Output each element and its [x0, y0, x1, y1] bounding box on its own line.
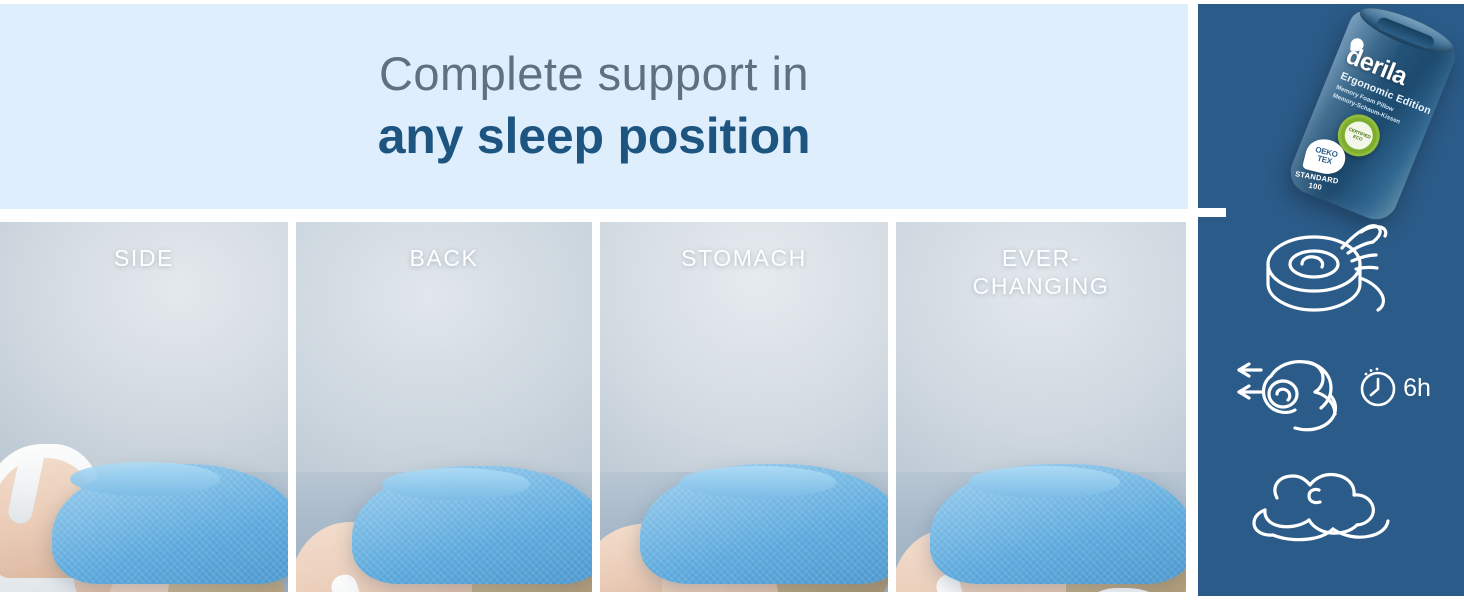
instruction-step-3: [1198, 452, 1464, 564]
oeko-line-2: TEX: [1316, 155, 1333, 167]
product-package[interactable]: derila Ergonomic Edition Memory Foam Pil…: [1284, 6, 1460, 226]
pillow-contour-lip: [968, 466, 1120, 498]
instruction-step-2: 6h: [1198, 334, 1464, 442]
headline-line-1: Complete support in: [379, 46, 809, 101]
position-label-back: BACK: [296, 244, 592, 272]
pillow-contour-lip: [382, 468, 530, 500]
sleep-position-gallery: SIDE BACK: [0, 222, 1188, 592]
clock-icon: [1355, 365, 1401, 411]
pillow-unroll-expand-icon: [1231, 342, 1359, 434]
position-label-side: SIDE: [0, 244, 288, 272]
pillow-contour-lip: [70, 462, 220, 496]
position-card-stomach[interactable]: STOMACH: [600, 222, 888, 592]
headline-line-2: any sleep position: [378, 106, 811, 167]
product-side-panel: derila Ergonomic Edition Memory Foam Pil…: [1198, 4, 1464, 596]
hand-unwrap-pillow-icon: [1256, 220, 1406, 324]
position-card-side[interactable]: SIDE: [0, 222, 288, 592]
position-label-everchanging: EVER- CHANGING: [896, 244, 1186, 300]
headline-block: Complete support in any sleep position: [0, 4, 1188, 209]
position-label-stomach: STOMACH: [600, 244, 888, 272]
pillow-expanded-icon: [1247, 462, 1415, 554]
expansion-duration: 6h: [1403, 374, 1431, 403]
oeko-standard-label: STANDARD 100: [1292, 170, 1340, 195]
instruction-step-1: [1198, 216, 1464, 328]
position-card-everchanging[interactable]: EVER- CHANGING: [896, 222, 1186, 592]
promo-banner: Complete support in any sleep position: [0, 0, 1464, 600]
pillow-contour-lip: [680, 466, 836, 498]
eco-badge-label: CERTIFIED ECO: [1341, 117, 1377, 153]
position-card-back[interactable]: BACK: [296, 222, 592, 592]
